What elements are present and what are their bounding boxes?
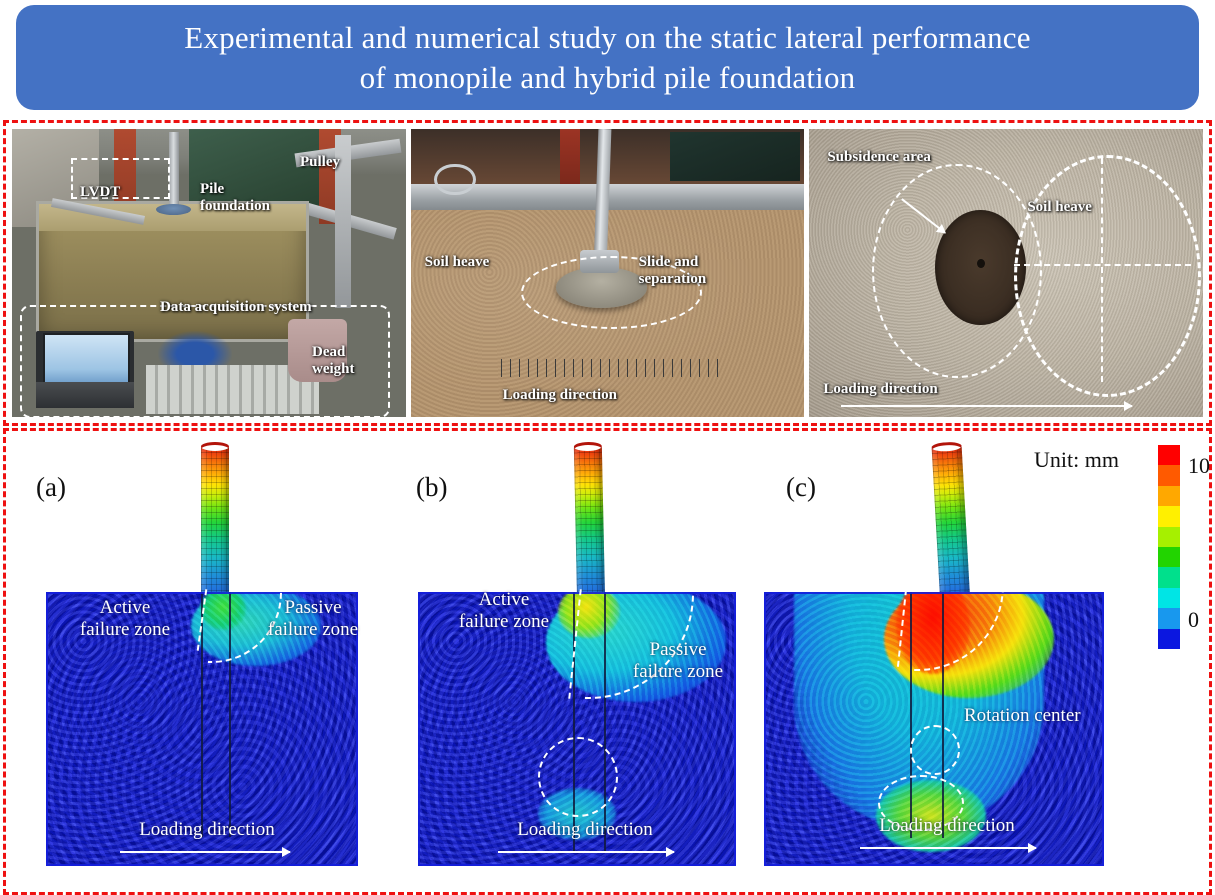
photo2-label-loading-direction: Loading direction: [503, 387, 617, 404]
dem-panel-a: (a) Active failure zone Passive failure …: [12, 437, 392, 886]
dem-panel-a-loading-arrow: [120, 851, 290, 853]
dem-panel-b-label-loading-direction: Loading direction: [500, 819, 670, 841]
photo3-heave-dashed-circle: [1014, 155, 1201, 397]
dem-panel-b-loading-arrow: [498, 851, 674, 853]
photo1-label-pulley: Pulley: [300, 154, 340, 171]
photo1-label-pile-foundation: Pile foundation: [200, 181, 270, 215]
title-line-2: of monopile and hybrid pile foundation: [360, 60, 856, 95]
dem-panel-a-label-passive-zone: Passive failure zone: [248, 597, 378, 641]
photo1-pile: [169, 132, 178, 210]
dem-panel-a-pile-mouth: [201, 442, 229, 451]
photo1-steel-beam-b: [304, 203, 398, 240]
dem-panel-c-tag: (c): [786, 472, 816, 503]
photo1-label-lvdt: LVDT: [80, 184, 120, 201]
photo1-label-dead-weight: Dead weight: [312, 344, 355, 378]
photo3-horizontal-dashed-axis: [1014, 264, 1191, 266]
photo-pile-close-up: Soil heave Slide and separation Loading …: [411, 129, 805, 417]
dem-panel-a-pile: [201, 445, 229, 597]
photo2-steel-ruler: [501, 359, 721, 376]
colorbar-band-9: [1158, 629, 1180, 649]
dem-panel-b-pile: [574, 445, 605, 598]
colorbar-band-6: [1158, 567, 1180, 587]
dem-panel-c: (c) Rotation cent: [774, 437, 1094, 886]
colorbar-unit-label: Unit: mm: [1034, 447, 1119, 473]
photo2-blackboard: [670, 132, 800, 181]
dem-panel-a-label-loading-direction: Loading direction: [122, 819, 292, 841]
dem-panel-c-rotation-center-circle: [910, 725, 960, 775]
graphical-abstract-page: Experimental and numerical study on the …: [0, 0, 1215, 893]
colorbar-band-2: [1158, 486, 1180, 506]
dem-panel-b-label-passive-zone: Passive failure zone: [610, 639, 746, 683]
colorbar-band-3: [1158, 506, 1180, 526]
photo3-label-soil-heave: Soil heave: [1027, 199, 1092, 216]
dem-panel-c-loading-arrow: [860, 847, 1036, 849]
dem-panel-c-pile-mouth: [931, 441, 961, 452]
photo3-label-loading-direction: Loading direction: [823, 381, 937, 398]
photo2-label-slide-separation: Slide and separation: [639, 254, 707, 288]
dem-panel-b: (b) Active failure zone Passi: [392, 437, 774, 886]
dem-panel-c-pile: [932, 444, 970, 597]
dem-panel-b-pile-mouth: [574, 442, 602, 452]
colorbar-band-0: [1158, 445, 1180, 465]
dem-panel-b-toe-dashed-circle: [538, 737, 618, 817]
title-banner: Experimental and numerical study on the …: [16, 5, 1199, 110]
colorbar-band-8: [1158, 608, 1180, 628]
title-line-1: Experimental and numerical study on the …: [184, 20, 1030, 55]
photo3-vertical-dashed-axis: [1101, 158, 1103, 383]
dem-panel-c-label-loading-direction: Loading direction: [862, 815, 1032, 837]
colorbar-max-tick: 10: [1188, 453, 1210, 479]
dem-row: (a) Active failure zone Passive failure …: [12, 437, 1203, 886]
photo-row: LVDT Pulley Pile foundation Data acquisi…: [12, 129, 1203, 417]
photo2-label-soil-heave: Soil heave: [425, 254, 490, 271]
photo3-label-subsidence-area: Subsidence area: [827, 149, 930, 166]
photo2-lifting-ring: [434, 164, 475, 196]
dem-panel-b-label-active-zone: Active failure zone: [436, 589, 572, 633]
dem-panel-c-label-rotation-center: Rotation center: [964, 705, 1110, 727]
dem-panel-a-label-active-zone: Active failure zone: [60, 597, 190, 641]
colorbar-band-7: [1158, 588, 1180, 608]
photo-lab-test-setup: LVDT Pulley Pile foundation Data acquisi…: [12, 129, 406, 417]
colorbar-min-tick: 0: [1188, 607, 1199, 633]
photo2-red-post: [560, 129, 580, 187]
photo3-loading-direction-arrow: [841, 405, 1132, 407]
dem-panel-frame: (a) Active failure zone Passive failure …: [3, 428, 1212, 895]
colorbar-band-4: [1158, 527, 1180, 547]
photo1-label-daq: Data acquisition system: [160, 299, 312, 316]
dem-panel-b-tag: (b): [416, 472, 447, 503]
photo-sand-surface-top-view: Subsidence area Soil heave Loading direc…: [809, 129, 1203, 417]
colorbar-band-5: [1158, 547, 1180, 567]
dem-panel-a-tag: (a): [36, 472, 66, 503]
page-title: Experimental and numerical study on the …: [158, 18, 1056, 97]
colorbar-scale: [1158, 445, 1180, 649]
colorbar-band-1: [1158, 465, 1180, 485]
photo-panel-frame: LVDT Pulley Pile foundation Data acquisi…: [3, 120, 1212, 426]
